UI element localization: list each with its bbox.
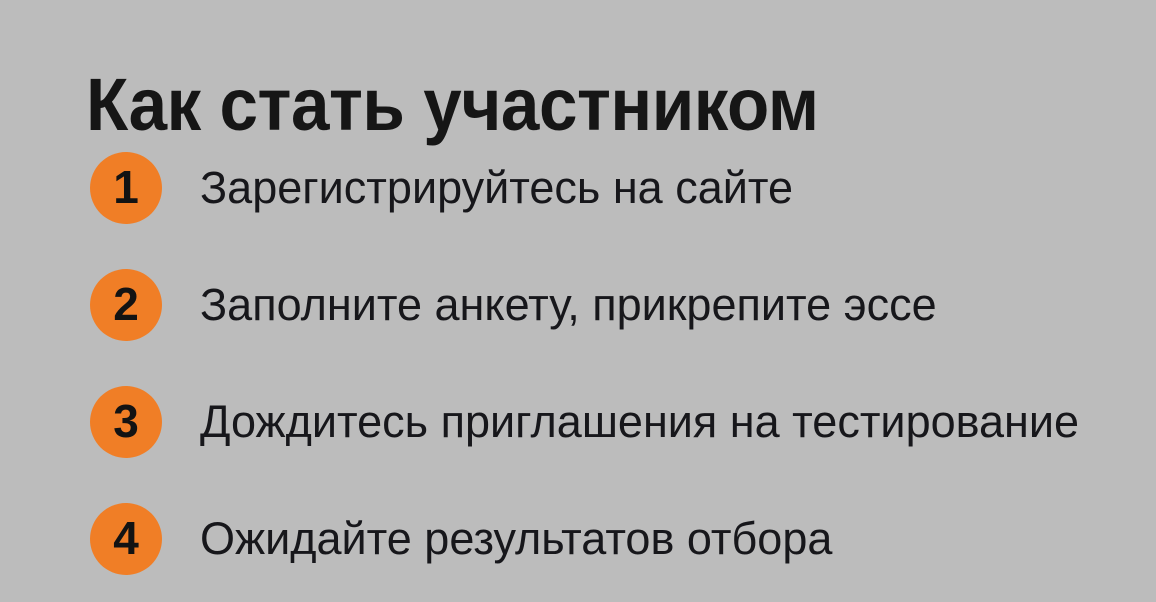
step-number-2: 2 [113,281,139,327]
list-item: 4 Ожидайте результатов отбора [0,503,1156,575]
step-label-4: Ожидайте результатов отбора [200,503,832,575]
step-badge-1: 1 [90,152,162,224]
step-number-3: 3 [113,398,139,444]
step-number-4: 4 [113,515,139,561]
step-label-3: Дождитесь приглашения на тестирование [200,386,1079,458]
step-label-1: Зарегистрируйтесь на сайте [200,152,793,224]
list-item: 2 Заполните анкету, прикрепите эссе [0,269,1156,341]
step-badge-3: 3 [90,386,162,458]
step-badge-4: 4 [90,503,162,575]
slide-root: Как стать участником 1 Зарегистрируйтесь… [0,0,1156,602]
step-label-2: Заполните анкету, прикрепите эссе [200,269,937,341]
step-badge-2: 2 [90,269,162,341]
step-number-1: 1 [113,164,139,210]
page-title: Как стать участником [86,68,819,142]
list-item: 3 Дождитесь приглашения на тестирование [0,386,1156,458]
list-item: 1 Зарегистрируйтесь на сайте [0,152,1156,224]
steps-list: 1 Зарегистрируйтесь на сайте 2 Заполните… [0,152,1156,575]
